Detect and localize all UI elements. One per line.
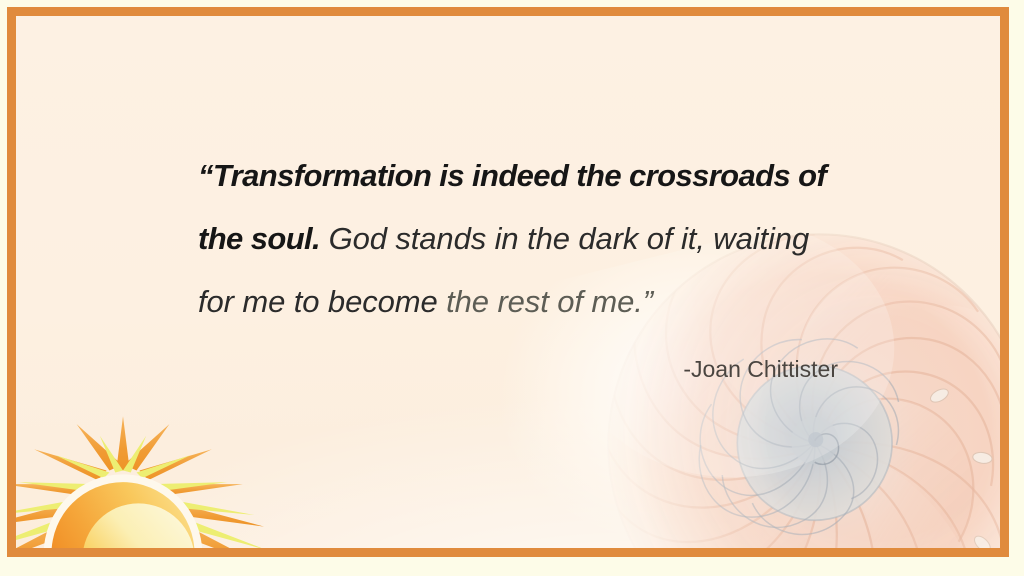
quote-attribution: -Joan Chittister xyxy=(198,356,838,383)
quote-line-3-faded: the rest of me.” xyxy=(438,284,653,319)
quote-line-3: for me to become the rest of me.” xyxy=(198,270,898,333)
quote-line-3-regular: for me to become xyxy=(198,284,438,319)
quote-line-1-bold: “Transformation is indeed the crossroads… xyxy=(198,158,826,193)
quote-line-2-regular: God stands in the dark of it, waiting xyxy=(320,221,809,256)
quote-line-2: the soul. God stands in the dark of it, … xyxy=(198,207,898,270)
quote-text: “Transformation is indeed the crossroads… xyxy=(198,144,898,333)
rising-sun-graphic xyxy=(16,370,268,548)
quote-slide: “Transformation is indeed the crossroads… xyxy=(0,0,1024,576)
quote-line-2-bold: the soul. xyxy=(198,221,320,256)
quote-line-1: “Transformation is indeed the crossroads… xyxy=(198,144,898,207)
slide-canvas: “Transformation is indeed the crossroads… xyxy=(16,16,1000,548)
